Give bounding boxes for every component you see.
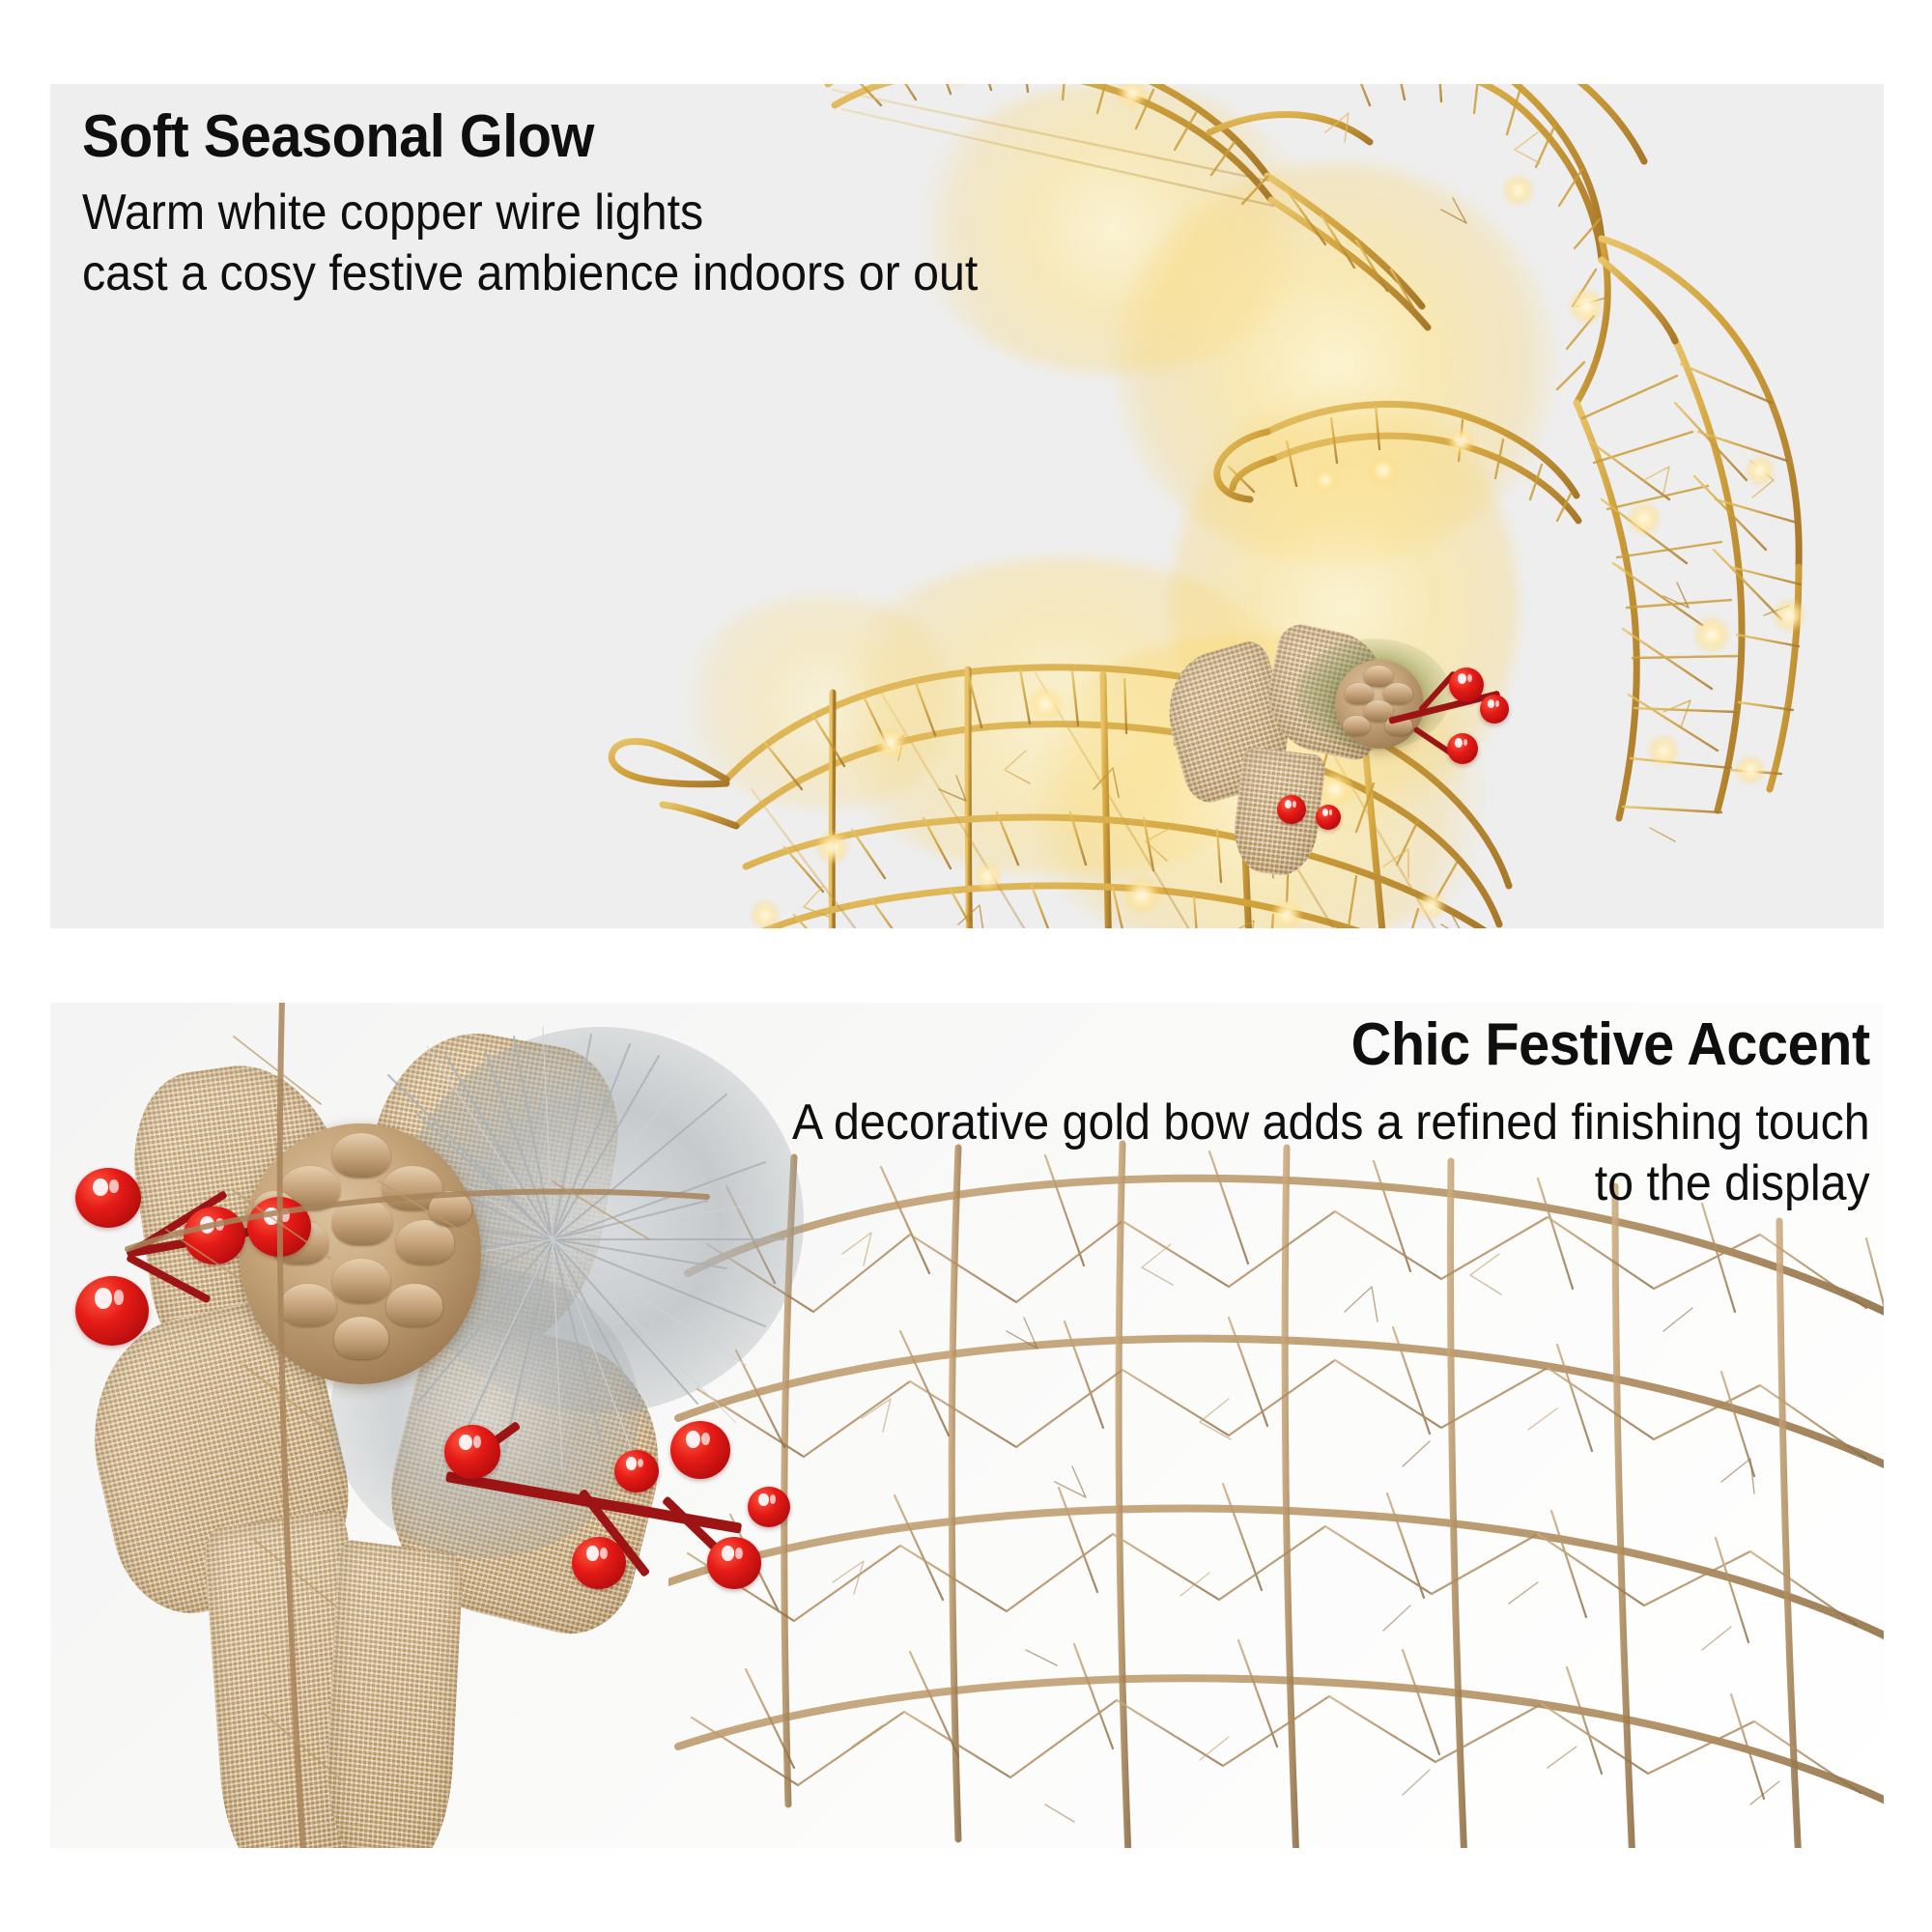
subline-top-line-2: cast a cosy festive ambience indoors or … [82, 243, 978, 303]
berry-sprig-upper-left [50, 1133, 388, 1423]
glow-halo [678, 596, 968, 809]
bow-loop-upper-right [339, 1018, 633, 1374]
subline-bottom-line-1: A decorative gold bow adds a refined fin… [792, 1093, 1870, 1152]
berry-stem [1388, 691, 1500, 724]
glow-halo [1113, 161, 1557, 567]
berry-stem [126, 1253, 212, 1303]
pine-cone [240, 1123, 481, 1384]
red-berry [572, 1537, 626, 1589]
feature-text-top: Soft Seasonal Glow Warm white copper wir… [82, 106, 1045, 303]
berry-stem [453, 1421, 521, 1473]
burlap-bow-accent-top [1161, 625, 1480, 876]
subline-top-line-1: Warm white copper wire lights [82, 183, 978, 242]
red-berry [75, 1276, 149, 1346]
bow-loop-lower-right [365, 1307, 686, 1647]
infographic-page: Soft Seasonal Glow Warm white copper wir… [0, 0, 1932, 1932]
red-berry [748, 1487, 790, 1527]
feature-panel-bottom: Chic Festive Accent A decorative gold bo… [50, 1003, 1884, 1848]
berry-stem [662, 1495, 744, 1576]
glow-halo [813, 557, 1316, 876]
berry-stem [126, 1190, 228, 1258]
feature-panel-top: Soft Seasonal Glow Warm white copper wir… [50, 84, 1884, 928]
headline-top: Soft Seasonal Glow [82, 106, 978, 167]
bow-tail-ribbon [203, 1508, 370, 1848]
unlit-wire-mesh-artwork [668, 1128, 1884, 1848]
red-berry [670, 1421, 730, 1479]
berry-stem [445, 1471, 742, 1534]
bow-tail-ribbon-2 [323, 1539, 464, 1848]
bow-loop-right [1258, 620, 1395, 763]
red-berry [184, 1207, 245, 1264]
subline-bottom: A decorative gold bow adds a refined fin… [792, 1093, 1870, 1213]
berry-stem [578, 1489, 650, 1577]
burlap-bow-closeup-artwork [89, 1210, 862, 1848]
red-berry [444, 1425, 500, 1479]
subline-top: Warm white copper wire lights cast a cos… [82, 183, 978, 303]
bow-tail [1230, 746, 1327, 879]
headline-bottom: Chic Festive Accent [792, 1014, 1870, 1075]
glow-halo [1007, 635, 1509, 928]
pine-spray-accent [1296, 639, 1451, 751]
feature-text-bottom: Chic Festive Accent A decorative gold bo… [711, 1014, 1870, 1213]
wire-mesh-svg [668, 1128, 1884, 1848]
bow-loop-left [1153, 638, 1303, 809]
red-berry [1447, 733, 1478, 764]
red-berry [1316, 805, 1341, 830]
subline-bottom-line-2: to the display [792, 1153, 1870, 1213]
red-berry [1449, 668, 1484, 702]
red-berry [247, 1197, 311, 1257]
red-berry [707, 1537, 761, 1589]
red-berry [1480, 695, 1509, 724]
red-berry [614, 1450, 659, 1492]
berry-sprig-lower-right [417, 1394, 881, 1684]
red-berry [1277, 795, 1306, 824]
bow-loop-upper-left [122, 1052, 375, 1397]
red-berry [75, 1168, 141, 1228]
bow-loop-lower-left [69, 1290, 370, 1628]
berry-stem [1412, 726, 1454, 757]
berry-stem [127, 1217, 309, 1258]
berry-stem [1418, 670, 1458, 713]
silver-tinsel-spray [330, 1268, 639, 1558]
pine-cone-accent [1335, 660, 1424, 749]
glow-halo [1171, 384, 1519, 828]
